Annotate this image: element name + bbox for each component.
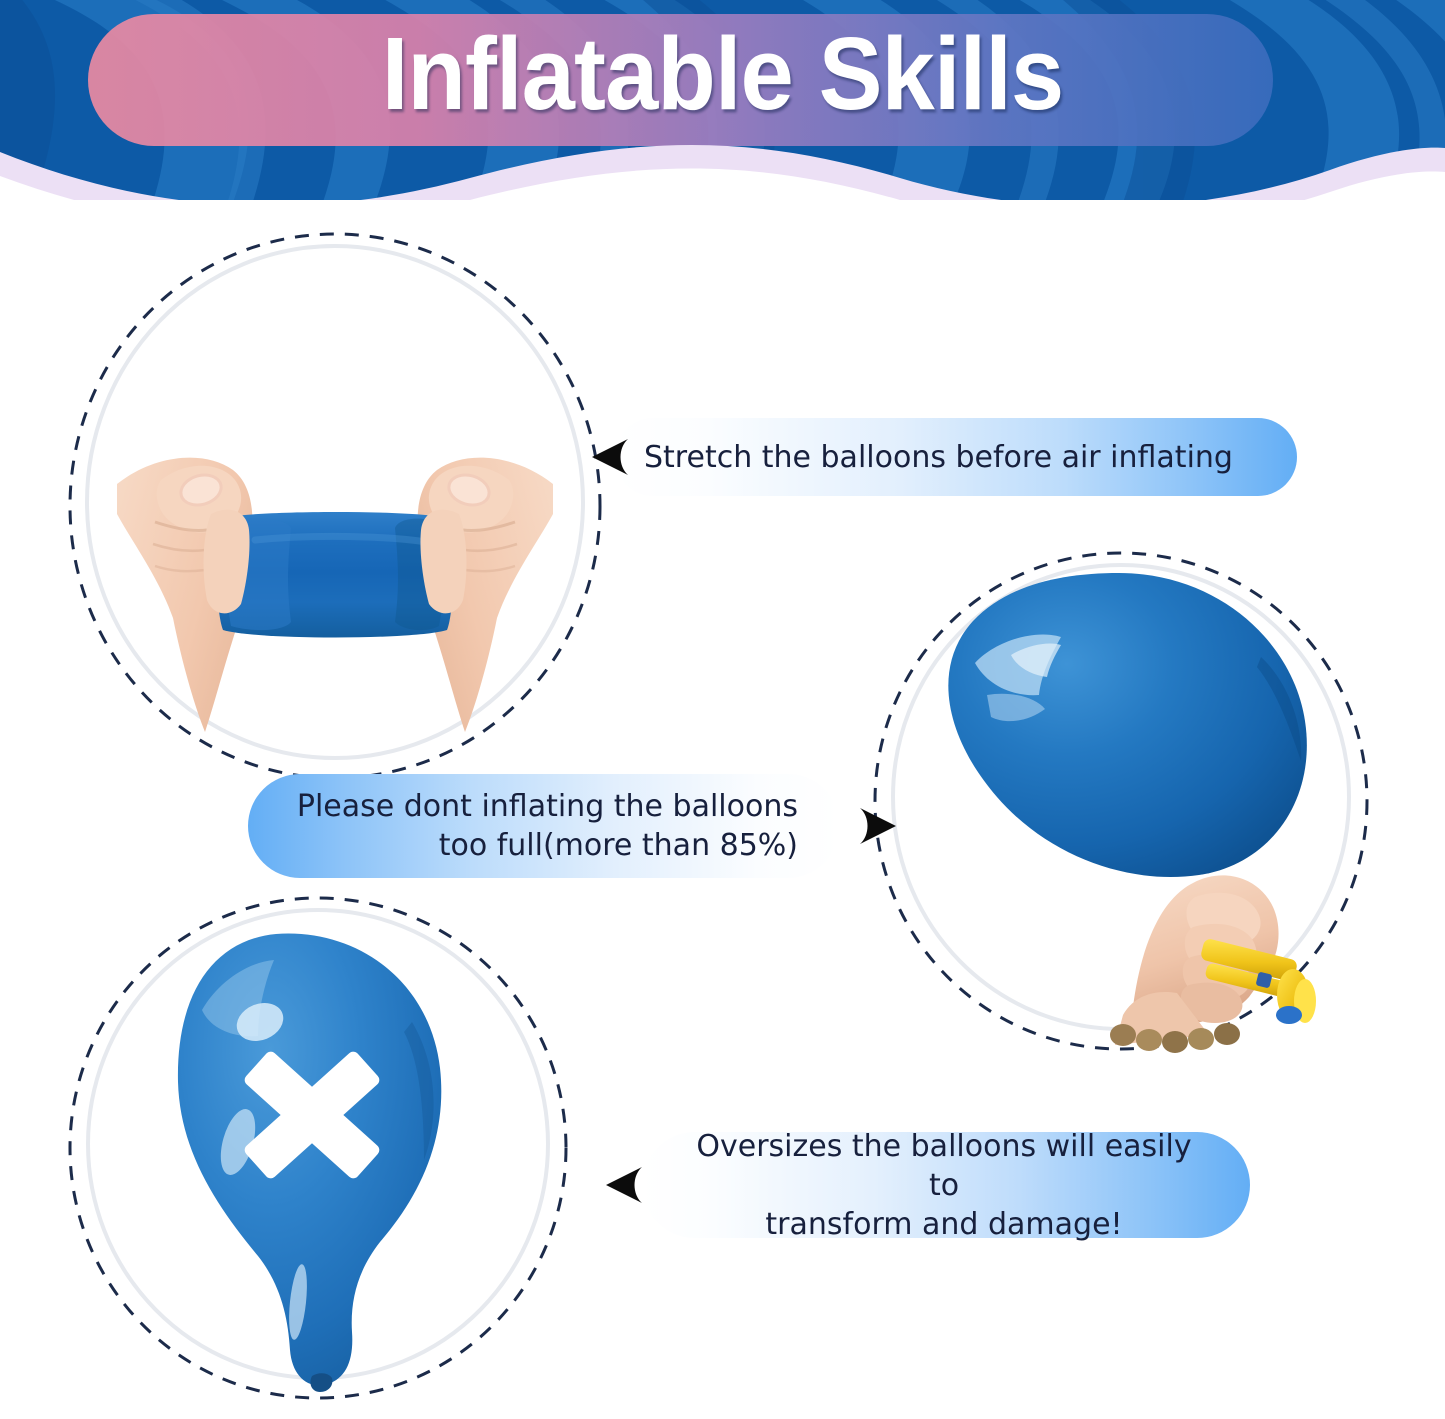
- right-arrow-icon: [854, 803, 900, 849]
- callout-pill-oversize[interactable]: Oversizes the balloons will easily to tr…: [642, 1132, 1250, 1238]
- deformed-balloon: [178, 934, 441, 1392]
- callout-pill-stretch[interactable]: Stretch the balloons before air inflatin…: [614, 418, 1297, 496]
- callout-text-oversize: Oversizes the balloons will easily to tr…: [678, 1127, 1210, 1244]
- callout-line-2: too full(more than 85%): [439, 828, 798, 863]
- left-arrow-icon: [588, 434, 634, 480]
- callout-line-2: transform and damage!: [765, 1207, 1122, 1242]
- deformed-balloon-with-x-mark-photo: [62, 892, 574, 1404]
- inflated-balloon: [948, 573, 1307, 877]
- callout-line-1: Please dont inflating the balloons: [297, 789, 798, 824]
- callout-line-1: Oversizes the balloons will easily to: [696, 1129, 1191, 1203]
- callout-pill-dont-overinflate[interactable]: Please dont inflating the balloons too f…: [248, 774, 840, 878]
- photo-circle-stretch: [55, 222, 615, 790]
- callout-oversize[interactable]: Oversizes the balloons will easily to tr…: [602, 1132, 1250, 1238]
- stretched-balloon: [217, 512, 453, 638]
- infographic-page: Inflatable Skills: [0, 0, 1445, 1419]
- photo-circle-oversize: [62, 892, 574, 1404]
- callout-text-dont-overinflate: Please dont inflating the balloons too f…: [278, 787, 798, 865]
- header-banner: Inflatable Skills: [0, 0, 1445, 200]
- photo-circle-inflate: [865, 545, 1377, 1057]
- hand-holding-inflated-balloon-with-pump-photo: [865, 545, 1377, 1057]
- callout-text-stretch: Stretch the balloons before air inflatin…: [644, 438, 1271, 477]
- left-arrow-icon: [602, 1162, 648, 1208]
- callout-stretch[interactable]: Stretch the balloons before air inflatin…: [588, 418, 1297, 496]
- hands-stretching-balloon-photo: [55, 222, 615, 790]
- banner-background: [0, 0, 1445, 200]
- callout-dont-overinflate[interactable]: Please dont inflating the balloons too f…: [248, 774, 900, 878]
